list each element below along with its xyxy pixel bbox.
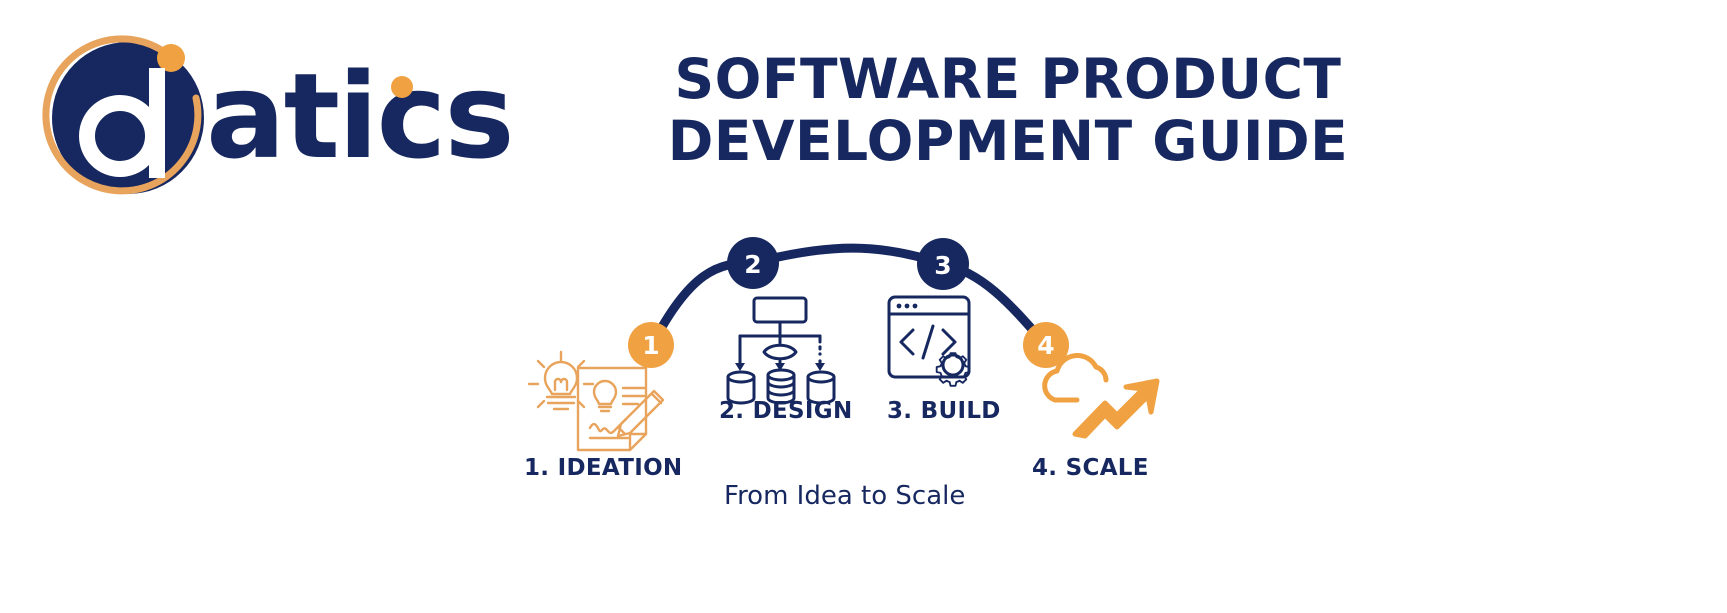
growth-arrow (1075, 381, 1157, 436)
node-2-number: 2 (744, 250, 761, 279)
gear-icon (937, 353, 970, 386)
node-4-number: 4 (1037, 331, 1054, 360)
design-icon (728, 298, 834, 403)
node-3-number: 3 (934, 251, 951, 280)
process-node-3[interactable]: 3 (917, 238, 969, 290)
process-arc (652, 248, 1046, 345)
process-diagram: 1 (0, 0, 1727, 608)
node-1-number: 1 (642, 331, 659, 360)
process-node-1[interactable]: 1 (628, 322, 674, 368)
database-cylinders (728, 370, 834, 403)
build-icon (889, 297, 969, 386)
scale-icon (1045, 355, 1157, 436)
process-node-2[interactable]: 2 (727, 237, 779, 289)
process-node-4[interactable]: 4 (1023, 322, 1069, 368)
ideation-icon (529, 352, 663, 450)
